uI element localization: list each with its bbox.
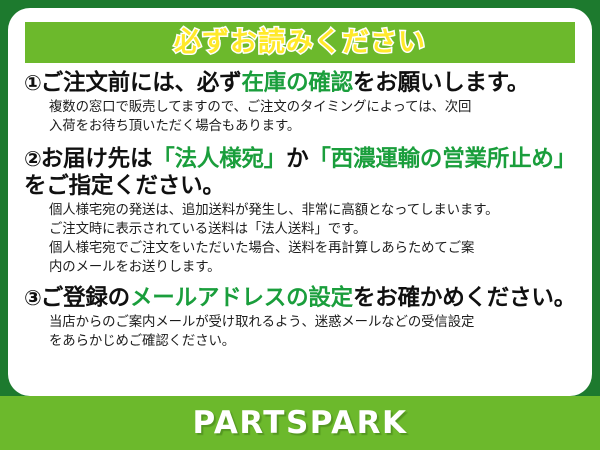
notice-item-2-heading-post: をご指定ください。 [24,173,225,199]
notice-item-2: ②お届け先は「法人様宛」か「西濃運輸の営業所止め」をご指定ください。 個人様宅宛… [24,146,578,278]
notice-item-2-heading: ②お届け先は「法人様宛」か「西濃運輸の営業所止め」をご指定ください。 [24,146,578,200]
notice-item-2-body-line: ご注文時に表示されている送料は「法人送料」です。 [49,220,578,239]
notice-item-1-marker: ① [24,71,41,95]
notice-item-3: ③ご登録のメールアドレスの設定をお確かめください。 当店からのご案内メールが受け… [24,285,578,352]
notice-item-3-body-line: 当店からのご案内メールが受け取れるよう、迷惑メールなどの受信設定 [49,313,578,332]
notice-item-1-body: 複数の窓口で販売してますので、ご注文のタイミングによっては、次回 入荷をお待ち頂… [49,98,578,136]
notice-item-2-marker: ② [24,147,41,171]
notice-item-2-heading-mid: か [286,146,308,172]
notice-item-1-heading-highlight: 在庫の確認 [241,70,353,96]
notice-item-1-heading: ①ご注文前には、必ず在庫の確認をお願いします。 [24,70,578,97]
notice-item-1-heading-pre: ご注文前には、必ず [41,70,242,96]
notice-item-2-body-line: 個人様宅宛でご注文をいただいた場合、送料を再計算しあらためてご案 [49,239,578,258]
page-title: 必ずお読みください [174,29,426,56]
notice-item-3-marker: ③ [24,286,41,310]
notice-item-3-heading-pre: ご登録の [41,285,130,311]
notice-item-2-heading-pre: お届け先は [41,146,153,172]
notice-item-1-body-line: 入荷をお待ち頂いただく場合もあります。 [49,117,578,136]
brand-logo: PARTSPARK [192,408,407,439]
notice-item-2-body-line: 内のメールをお送りします。 [49,258,578,277]
notice-item-3-body: 当店からのご案内メールが受け取れるよう、迷惑メールなどの受信設定 をあらかじめご… [49,313,578,351]
notice-item-3-heading-post: をお確かめください。 [353,285,576,311]
notice-item-3-body-line: をあらかじめご確認ください。 [49,332,578,351]
notice-item-1-heading-post: をお願いします。 [353,70,529,96]
notice-card: 必ずお読みください ①ご注文前には、必ず在庫の確認をお願いします。 複数の窓口で… [0,0,600,450]
notice-item-3-heading: ③ご登録のメールアドレスの設定をお確かめください。 [24,285,578,312]
sections-container: ①ご注文前には、必ず在庫の確認をお願いします。 複数の窓口で販売してますので、ご… [8,70,592,351]
notice-item-3-heading-highlight: メールアドレスの設定 [130,285,353,311]
header-bar: 必ずお読みください [25,22,575,63]
footer-bar: PARTSPARK [0,396,600,450]
notice-item-2-heading-highlight-2: 「西濃運輸の営業所止め」 [308,146,576,172]
notice-item-1-body-line: 複数の窓口で販売してますので、ご注文のタイミングによっては、次回 [49,98,578,117]
notice-item-2-body-line: 個人様宅宛の発送は、追加送料が発生し、非常に高額となってしまいます。 [49,201,578,220]
notice-panel: 必ずお読みください ①ご注文前には、必ず在庫の確認をお願いします。 複数の窓口で… [8,8,592,396]
notice-item-2-heading-highlight: 「法人様宛」 [152,146,286,172]
notice-item-2-body: 個人様宅宛の発送は、追加送料が発生し、非常に高額となってしまいます。 ご注文時に… [49,201,578,278]
notice-item-1: ①ご注文前には、必ず在庫の確認をお願いします。 複数の窓口で販売してますので、ご… [24,70,578,137]
